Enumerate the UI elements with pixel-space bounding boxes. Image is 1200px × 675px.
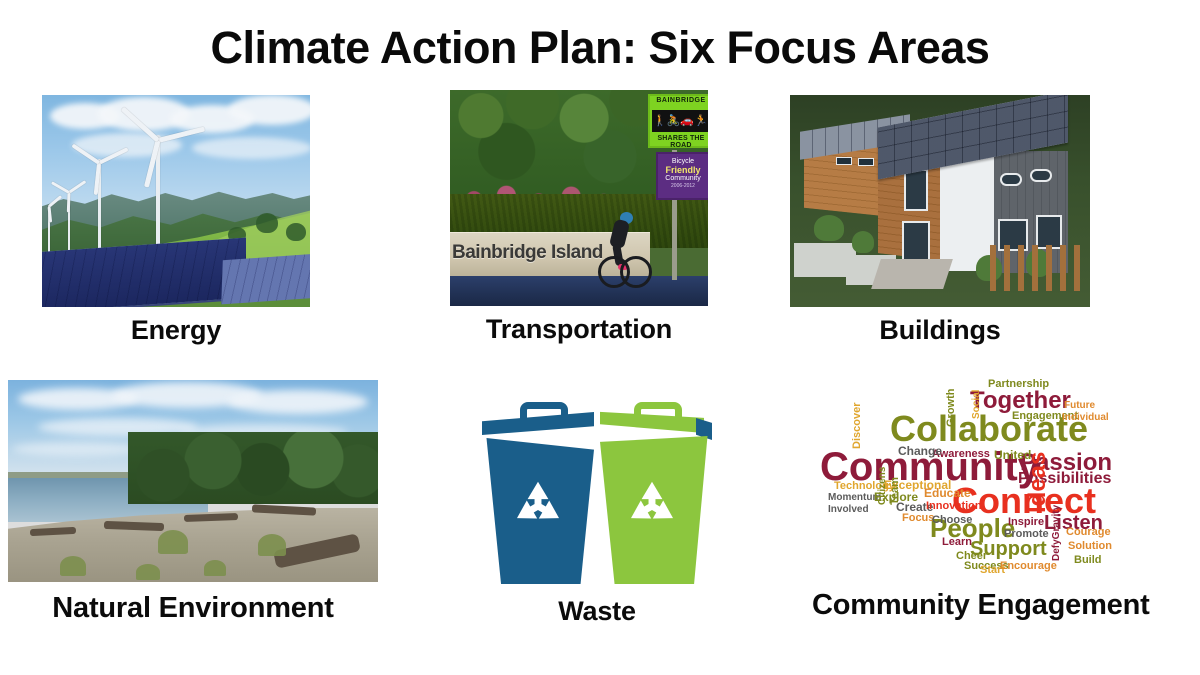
focus-area-card-waste[interactable]: Waste: [472, 388, 722, 627]
sign-purple-line3: Community: [658, 175, 708, 182]
cloud-shape: [12, 442, 142, 456]
word-cloud-term: Solutions: [1068, 541, 1112, 552]
shares-the-road-sign: BAINBRIDGE 🚶 🚴 🚗 🏃 🏇 SHARES THE ROAD: [648, 94, 708, 148]
focus-area-card-community-engagement[interactable]: CommunityCollaborateConnectTogetherPassi…: [812, 375, 1112, 622]
cyclist-figure: [596, 212, 648, 286]
slide-root: Climate Action Plan: Six Focus Areas: [0, 0, 1200, 675]
sign-green-top-text: BAINBRIDGE: [650, 97, 708, 104]
sign-purple-line4: 2006-2012: [658, 183, 708, 189]
window: [1030, 169, 1052, 182]
focus-area-label-natural-environment: Natural Environment: [8, 592, 378, 625]
sign-green-bottom-text: SHARES THE ROAD: [650, 135, 708, 149]
cloud-shape: [228, 390, 368, 414]
word-cloud-term: Courage: [1066, 527, 1111, 538]
word-cloud-term: Inspire: [1008, 517, 1044, 528]
walker-icon: 🏃: [694, 116, 708, 127]
focus-area-card-energy[interactable]: Energy: [42, 95, 310, 346]
focus-area-label-community-engagement: Community Engagement: [812, 589, 1112, 622]
word-cloud-term: Involved: [828, 505, 869, 515]
recycling-bin-green: [600, 404, 712, 584]
dune-grass: [60, 556, 86, 576]
recycling-bin-blue: [482, 404, 594, 584]
focus-area-card-natural-environment[interactable]: Natural Environment: [8, 380, 378, 625]
dune-grass: [204, 560, 226, 576]
word-cloud-term: Focus: [902, 513, 934, 524]
pedestrian-icon: 🚶: [653, 116, 667, 127]
word-cloud-term: Educate: [924, 487, 971, 499]
road-user-icons: 🚶 🚴 🚗 🏃 🏇: [653, 112, 707, 130]
entry-walkway: [871, 259, 953, 289]
word-cloud-term: DefyGravity: [1052, 505, 1062, 561]
dune-grass: [258, 534, 286, 556]
word-cloud-term: Choose: [932, 515, 972, 526]
word-cloud-term: Learn: [942, 537, 972, 548]
window: [904, 169, 928, 211]
solar-panel-array-right: [221, 254, 310, 305]
window: [858, 158, 874, 166]
window: [1000, 173, 1022, 186]
word-cloud-term: Discover: [852, 403, 863, 449]
shrub: [852, 231, 874, 253]
page-title: Climate Action Plan: Six Focus Areas: [0, 22, 1200, 74]
evergreen-forest: [128, 432, 378, 504]
bicycle-icon: 🚴: [667, 116, 681, 127]
focus-area-card-buildings[interactable]: Buildings: [790, 95, 1090, 346]
cloud-shape: [228, 95, 310, 125]
word-cloud-term: Innovation: [926, 501, 982, 512]
focus-area-label-waste: Waste: [472, 596, 722, 627]
word-cloud-term: Growth: [946, 389, 957, 428]
focus-area-label-transportation: Transportation: [450, 314, 708, 345]
window: [1036, 215, 1062, 249]
focus-area-label-buildings: Buildings: [790, 315, 1090, 346]
energy-image: [42, 95, 310, 307]
community-engagement-word-cloud: CommunityCollaborateConnectTogetherPassi…: [812, 375, 1112, 575]
waste-image: [472, 388, 722, 588]
recycle-icon: [510, 480, 566, 532]
word-cloud-term: Encourage: [1000, 561, 1057, 572]
tree-shape: [286, 223, 306, 241]
wood-fence: [990, 245, 1086, 291]
word-cloud-term: Citizens: [878, 467, 888, 505]
bin-body: [482, 438, 594, 584]
car-icon: 🚗: [680, 116, 694, 127]
primary-house-white-panel: [940, 153, 994, 271]
tree-shape: [256, 213, 278, 233]
bicycle-friendly-community-sign: Bicycle Friendly Community 2006-2012: [656, 152, 708, 200]
word-cloud-term: United: [994, 449, 1031, 461]
word-cloud-term: Change: [898, 445, 942, 457]
sign-purple-line2: Friendly: [658, 165, 708, 175]
word-cloud-term: Social: [972, 390, 982, 419]
focus-area-card-transportation[interactable]: City of Bainbridge Island BAINBRIDGE 🚶 🚴…: [450, 90, 708, 345]
word-cloud-term: Build: [1074, 555, 1102, 566]
shrub: [814, 215, 844, 241]
focus-area-label-energy: Energy: [42, 315, 310, 346]
word-cloud-term: Partnership: [988, 379, 1049, 390]
bicycle-wheel-front: [620, 256, 652, 288]
word-cloud-term: Individual: [1062, 413, 1109, 423]
dune-grass: [136, 564, 160, 580]
sign-purple-line1: Bicycle: [658, 158, 708, 165]
natural-environment-image: [8, 380, 378, 582]
bin-body: [600, 436, 712, 584]
word-cloud-term: Promote: [1004, 529, 1049, 540]
transportation-image: City of Bainbridge Island BAINBRIDGE 🚶 🚴…: [450, 90, 708, 306]
recycle-icon: [624, 480, 680, 532]
word-cloud-term: Future: [1064, 401, 1095, 411]
cloud-shape: [192, 137, 310, 159]
dune-grass: [158, 530, 188, 554]
road-surface: [450, 276, 708, 306]
buildings-image: [790, 95, 1090, 307]
window: [836, 157, 852, 165]
